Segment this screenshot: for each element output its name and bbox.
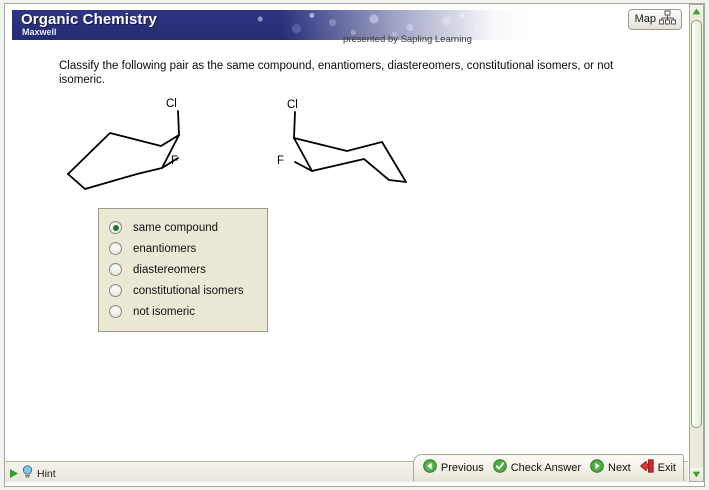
radio-enantiomers[interactable] bbox=[109, 242, 122, 255]
next-button[interactable]: Next bbox=[590, 459, 631, 478]
right-cl-bond-line bbox=[294, 112, 295, 138]
arrow-right-circle-icon bbox=[590, 459, 604, 478]
check-answer-button[interactable]: Check Answer bbox=[493, 459, 581, 478]
scroll-down-arrow-icon[interactable] bbox=[690, 468, 703, 481]
exit-button[interactable]: Exit bbox=[640, 459, 676, 478]
left-f-atom-label: F bbox=[171, 155, 178, 167]
vertical-scrollbar[interactable] bbox=[689, 4, 704, 482]
hint-button[interactable]: Hint bbox=[10, 465, 56, 483]
left-chair-bottom-edges bbox=[68, 135, 179, 189]
exit-door-icon bbox=[640, 459, 654, 478]
radio-not-isomeric[interactable] bbox=[109, 305, 122, 318]
option-diastereomers[interactable]: diastereomers bbox=[99, 259, 267, 280]
option-label-enantiomers: enantiomers bbox=[133, 243, 196, 255]
play-triangle-icon bbox=[10, 465, 18, 483]
map-button[interactable]: Map bbox=[628, 9, 682, 30]
check-answer-button-label: Check Answer bbox=[511, 462, 581, 474]
navigation-button-group: Previous Check Answer bbox=[413, 454, 684, 481]
right-cl-atom-label: Cl bbox=[287, 99, 298, 111]
structure-pair-figure: Cl F bbox=[5, 92, 688, 202]
option-constitutional-isomers[interactable]: constitutional isomers bbox=[99, 280, 267, 301]
right-f-atom-label: F bbox=[277, 155, 284, 167]
previous-button-label: Previous bbox=[441, 462, 484, 474]
left-cl-atom-label: Cl bbox=[166, 98, 177, 110]
right-chair-bottom-edges bbox=[294, 138, 406, 182]
map-button-label: Map bbox=[635, 14, 656, 25]
content-pane: Organic Chemistry Maxwell presented by S… bbox=[5, 4, 688, 460]
radio-same-compound[interactable] bbox=[109, 221, 122, 234]
banner-title: Organic Chemistry bbox=[21, 11, 157, 28]
hint-label: Hint bbox=[37, 468, 56, 480]
application-frame: Organic Chemistry Maxwell presented by S… bbox=[0, 0, 709, 490]
question-prompt: Classify the following pair as the same … bbox=[59, 60, 659, 87]
answer-options-panel: same compound enantiomers diastereomers … bbox=[98, 208, 268, 332]
bottom-toolbar: Hint Previous bbox=[5, 461, 688, 482]
option-label-constitutional-isomers: constitutional isomers bbox=[133, 285, 244, 297]
banner-subtitle: Maxwell bbox=[22, 27, 57, 37]
option-label-diastereomers: diastereomers bbox=[133, 264, 206, 276]
option-not-isomeric[interactable]: not isomeric bbox=[99, 301, 267, 322]
option-enantiomers[interactable]: enantiomers bbox=[99, 238, 267, 259]
lightbulb-icon bbox=[22, 465, 33, 483]
left-molecule bbox=[68, 111, 179, 189]
option-label-not-isomeric: not isomeric bbox=[133, 306, 195, 318]
option-same-compound[interactable]: same compound bbox=[99, 217, 267, 238]
site-map-icon bbox=[659, 10, 676, 30]
radio-constitutional-isomers[interactable] bbox=[109, 284, 122, 297]
structures-final-overlay: Cl F Cl F bbox=[5, 92, 688, 202]
right-molecule bbox=[294, 112, 406, 182]
option-label-same-compound: same compound bbox=[133, 222, 218, 234]
presented-by-text: presented by Sapling Learning bbox=[343, 34, 472, 45]
radio-diastereomers[interactable] bbox=[109, 263, 122, 276]
scrollbar-thumb[interactable] bbox=[691, 20, 702, 428]
left-cl-bond-line bbox=[178, 111, 179, 135]
check-circle-icon bbox=[493, 459, 507, 478]
scroll-up-arrow-icon[interactable] bbox=[690, 5, 703, 18]
previous-button[interactable]: Previous bbox=[423, 459, 484, 478]
arrow-left-circle-icon bbox=[423, 459, 437, 478]
exit-button-label: Exit bbox=[658, 462, 676, 474]
next-button-label: Next bbox=[608, 462, 631, 474]
right-chair-top-edges bbox=[294, 138, 406, 182]
